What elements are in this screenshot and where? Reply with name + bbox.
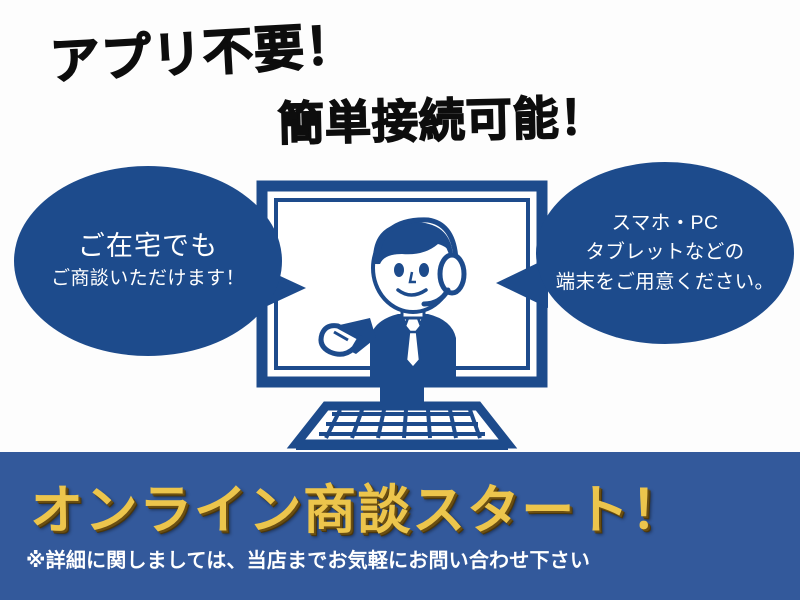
speech-bubble-right-line3: 端末をご用意ください。	[556, 268, 775, 298]
speech-bubble-left-line1: ご在宅でも	[78, 231, 218, 263]
banner-note: ※詳細に関しましては、当店までお気軽にお問い合わせ下さい	[26, 544, 590, 573]
bottom-banner: オンライン商談スタート！ ※詳細に関しましては、当店までお気軽にお問い合わせ下さ…	[0, 452, 800, 600]
speech-bubble-right-line1: スマホ・PC	[612, 209, 719, 239]
keyboard-base	[296, 406, 508, 450]
speech-bubble-right: スマホ・PC タブレットなどの 端末をご用意ください。	[536, 162, 794, 344]
online-consultation-poster: アプリ不要！ 簡単接続可能！	[0, 0, 800, 600]
banner-title: オンライン商談スタート！	[30, 468, 685, 544]
headline-primary: アプリ不要！	[48, 5, 358, 94]
speech-bubble-left: ご在宅でも ご商談いただけます！	[14, 166, 282, 356]
speech-bubble-right-line2: タブレットなどの	[585, 238, 744, 268]
headline-secondary: 簡単接続可能！	[277, 81, 607, 154]
speech-bubble-left-line2: ご商談いただけます！	[51, 267, 245, 292]
